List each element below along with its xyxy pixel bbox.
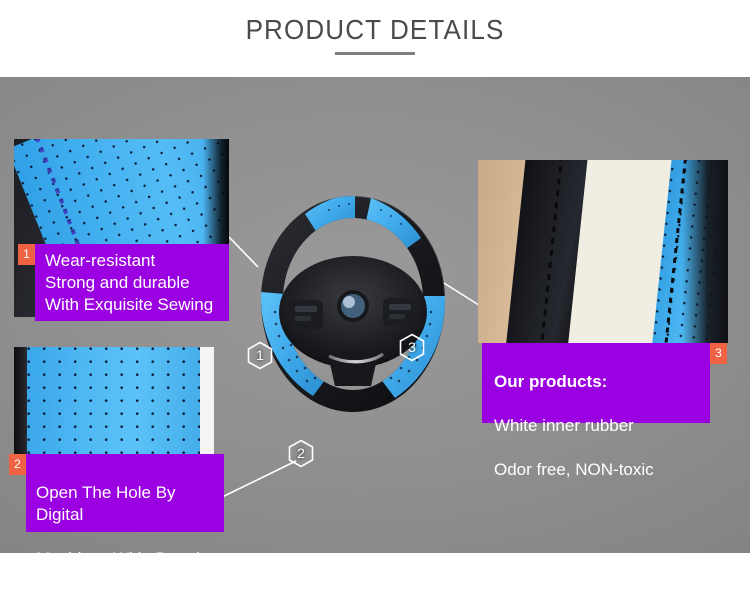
product-details-panel: 1 2 3 1 Wear-resistant Strong and durabl… [0,77,750,553]
hex-marker-1-label: 1 [256,347,264,363]
perforated-blue-panel [27,347,200,455]
footer-band [0,553,750,595]
feature-callout-1-text: Wear-resistant Strong and durable With E… [45,250,229,316]
feature-badge-2: 2 [9,454,26,475]
steering-wheel-product-image [243,188,463,420]
feature-callout-3-line-2: White inner rubber [494,416,634,435]
feature-callout-2-line-1: Open The Hole By Digital [36,483,176,524]
feature-badge-1: 1 [18,244,35,265]
hex-marker-3-label: 3 [408,339,416,355]
feature-photo-3 [478,160,728,343]
panel-dark-edge [14,347,27,455]
hex-marker-2-label: 2 [297,445,305,461]
hex-marker-3[interactable]: 3 [399,333,425,362]
feature-badge-3: 3 [710,343,727,364]
leader-line-2 [214,461,296,501]
feature-callout-3-line-3: Odor free, NON-toxic [494,460,654,479]
hex-marker-2[interactable]: 2 [288,439,314,468]
feature-photo-2 [14,347,214,455]
page-title: PRODUCT DETAILS [26,14,724,46]
feature-callout-3-text: Our products: White inner rubber Odor fr… [494,349,710,481]
feature-callout-2-text: Open The Hole By Digital Machine, With B… [36,460,224,553]
feature-callout-3: Our products: White inner rubber Odor fr… [482,343,710,423]
dashboard-shadow [682,160,728,343]
header-band: PRODUCT DETAILS [0,0,750,77]
title-underline-rule [335,52,415,55]
feature-callout-1: Wear-resistant Strong and durable With E… [35,244,229,321]
hex-marker-1[interactable]: 1 [247,341,273,370]
feature-callout-3-heading: Our products: [494,372,607,391]
feature-callout-2: Open The Hole By Digital Machine, With B… [26,454,224,532]
